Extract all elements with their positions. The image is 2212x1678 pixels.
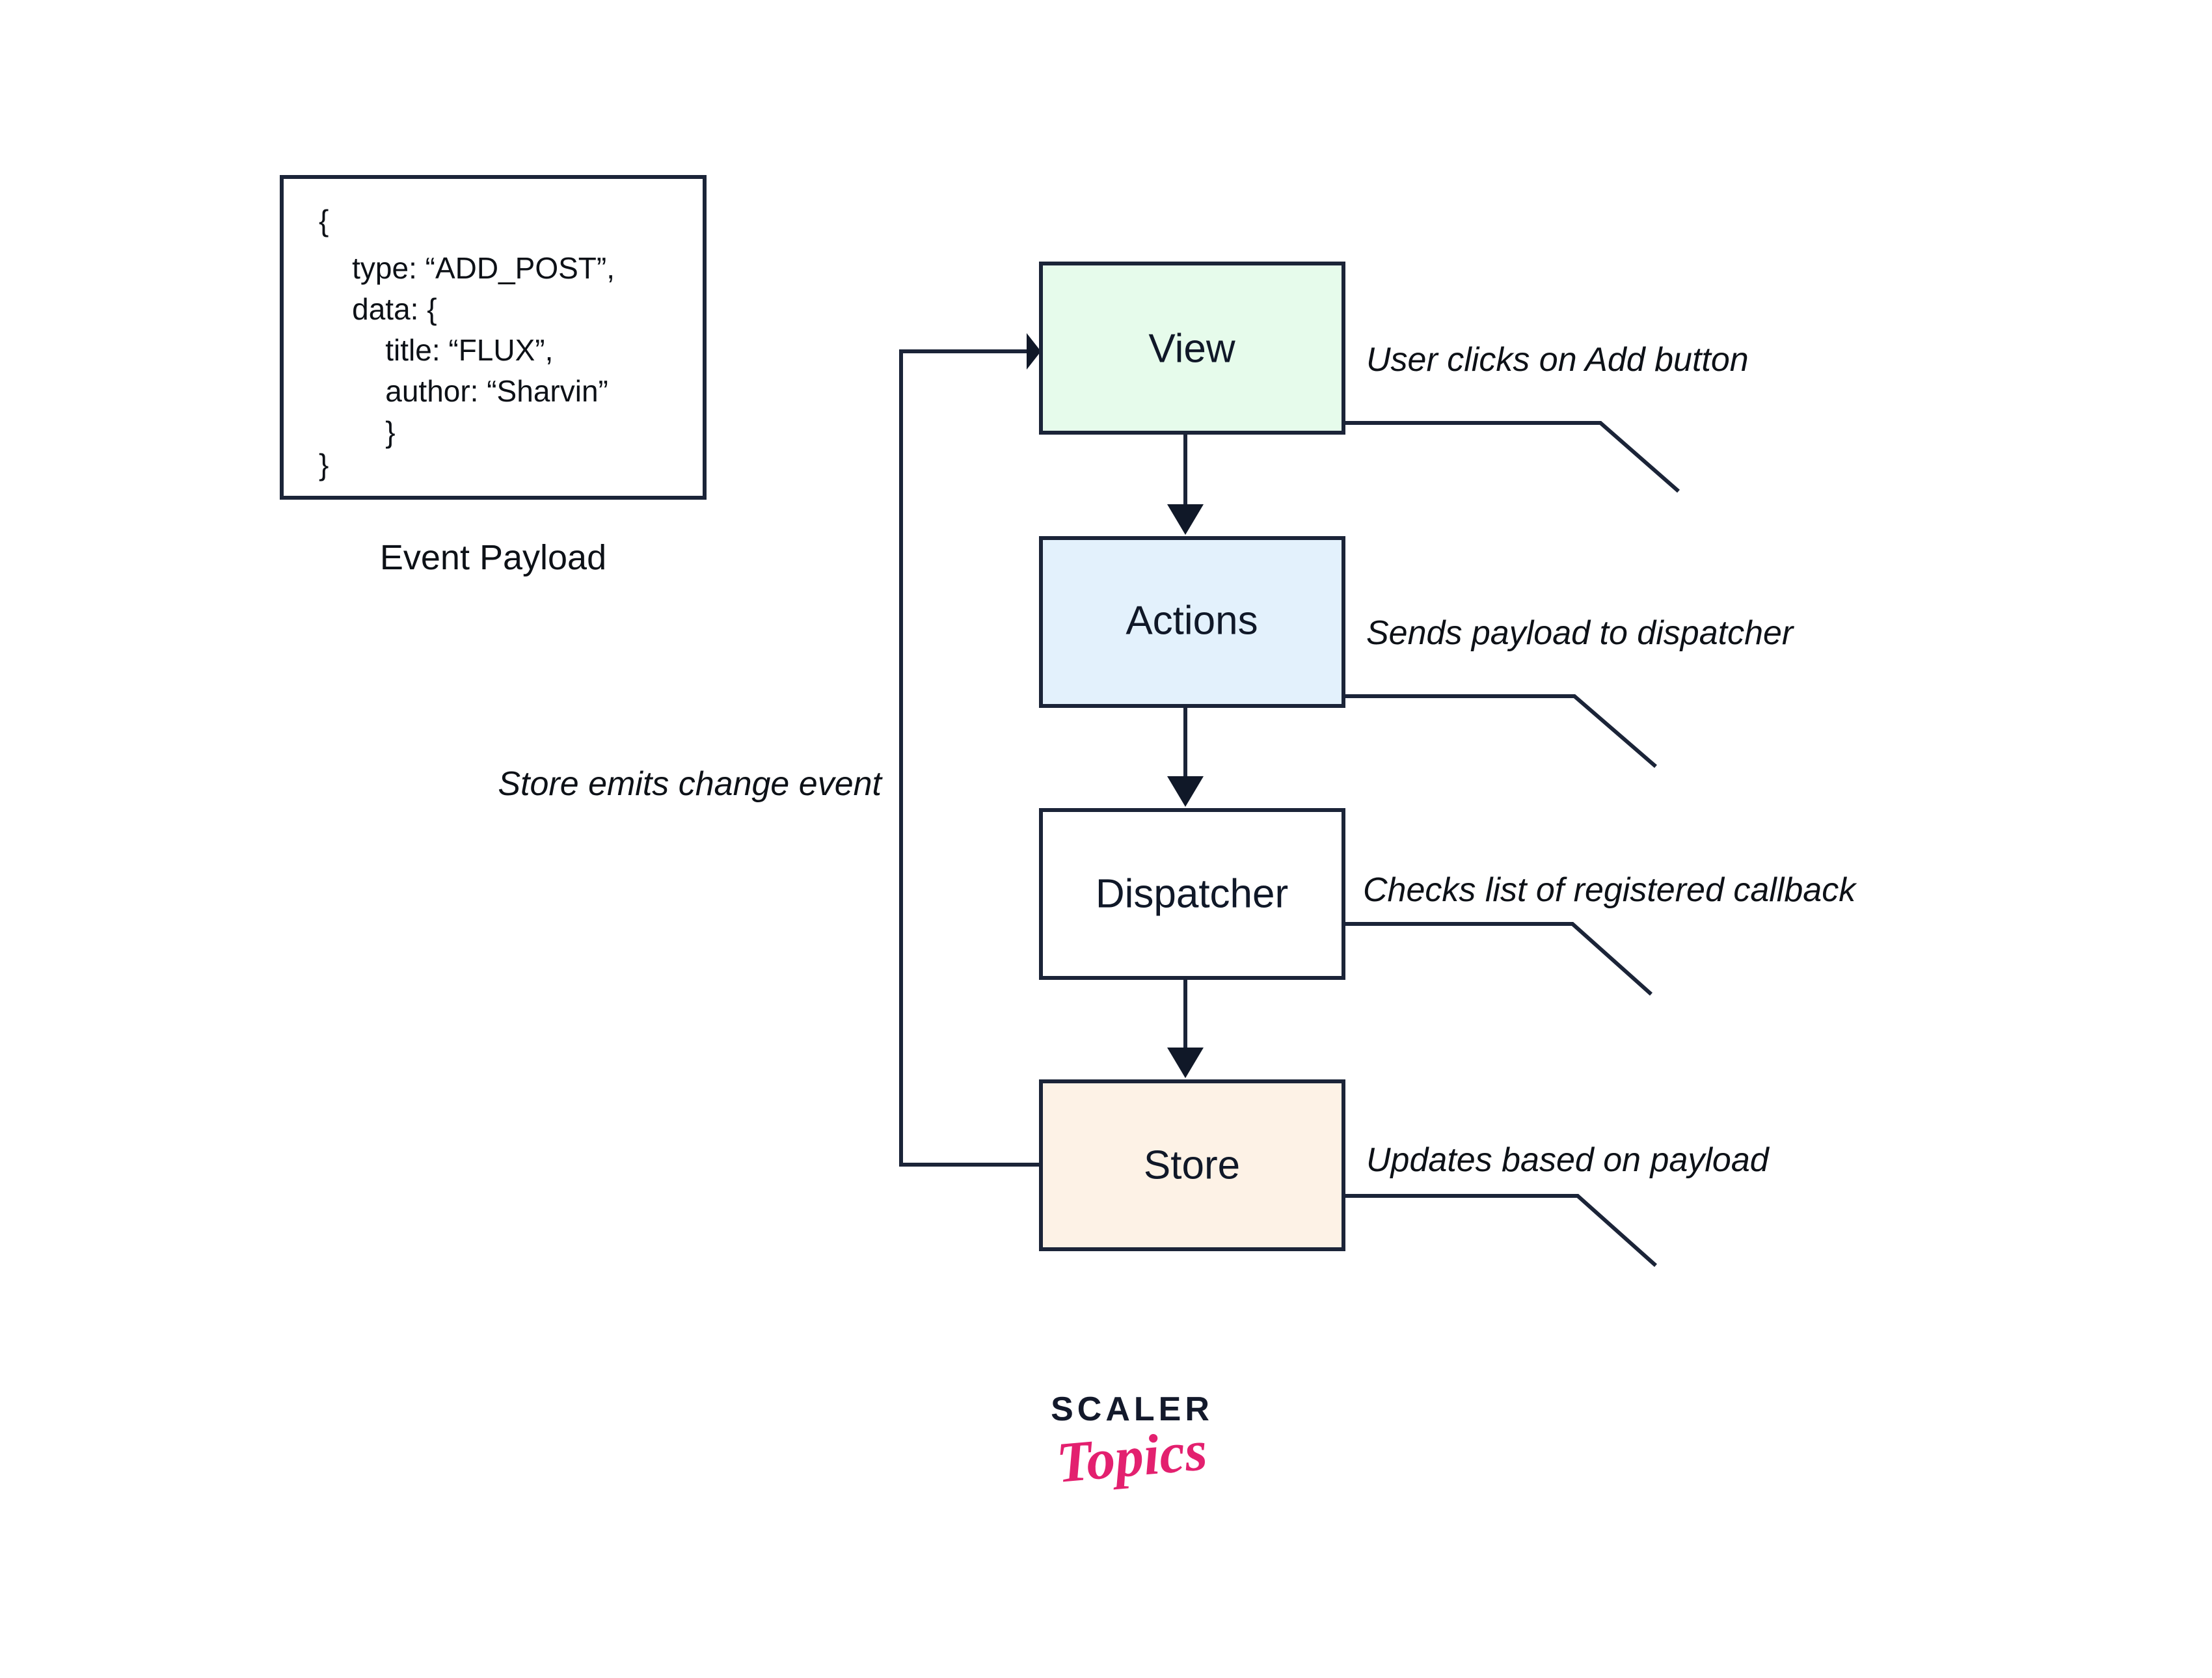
callout-dispatcher (1343, 924, 1651, 994)
payload-line-1: type: “ADD_POST”, (319, 251, 615, 285)
callout-dispatcher-line (1343, 924, 1651, 994)
payload-line-2: data: { (319, 292, 437, 326)
payload-line-6: } (319, 448, 329, 481)
feedback-path (901, 351, 1041, 1165)
arrow-actions-dispatcher-head (1167, 776, 1204, 807)
arrow-view-to-actions (1167, 433, 1204, 535)
callout-actions (1343, 696, 1656, 766)
payload-line-3: title: “FLUX”, (319, 333, 553, 367)
node-actions[interactable]: Actions (1041, 538, 1343, 706)
annotation-actions: Sends payload to dispatcher (1366, 614, 1795, 652)
dispatcher-label: Dispatcher (1096, 871, 1288, 916)
annotation-view: User clicks on Add button (1366, 341, 1749, 379)
annotation-dispatcher: Checks list of registered callback (1363, 871, 1857, 909)
actions-label: Actions (1126, 598, 1258, 643)
event-payload-group: { type: “ADD_POST”, data: { title: “FLUX… (282, 177, 705, 577)
arrow-dispatcher-to-store (1167, 978, 1204, 1078)
node-dispatcher[interactable]: Dispatcher (1041, 810, 1343, 978)
logo-secondary-text: Topics (1055, 1422, 1209, 1493)
event-payload-caption: Event Payload (380, 538, 606, 577)
payload-line-0: { (319, 204, 329, 237)
scaler-topics-logo: SCALER Topics (1002, 1392, 1262, 1486)
callout-store-line (1343, 1196, 1656, 1265)
feedback-connector (901, 333, 1041, 1165)
logo-primary-text: SCALER (1002, 1392, 1262, 1426)
annotation-store: Updates based on payload (1366, 1141, 1770, 1179)
callout-store (1343, 1196, 1656, 1265)
payload-line-5: } (319, 415, 396, 449)
view-label: View (1148, 326, 1235, 371)
arrow-dispatcher-store-head (1167, 1048, 1204, 1078)
payload-line-4: author: “Sharvin” (319, 374, 608, 408)
callout-actions-line (1343, 696, 1656, 766)
callout-view-line (1343, 423, 1679, 491)
arrow-actions-to-dispatcher (1167, 706, 1204, 807)
node-store[interactable]: Store (1041, 1081, 1343, 1249)
annotation-feedback: Store emits change event (498, 765, 883, 803)
arrow-view-actions-head (1167, 504, 1204, 535)
callout-view (1343, 423, 1679, 491)
node-view[interactable]: View (1041, 264, 1343, 433)
diagram-canvas: { type: “ADD_POST”, data: { title: “FLUX… (0, 0, 2212, 1678)
feedback-arrowhead (1027, 333, 1041, 370)
store-label: Store (1144, 1143, 1240, 1187)
